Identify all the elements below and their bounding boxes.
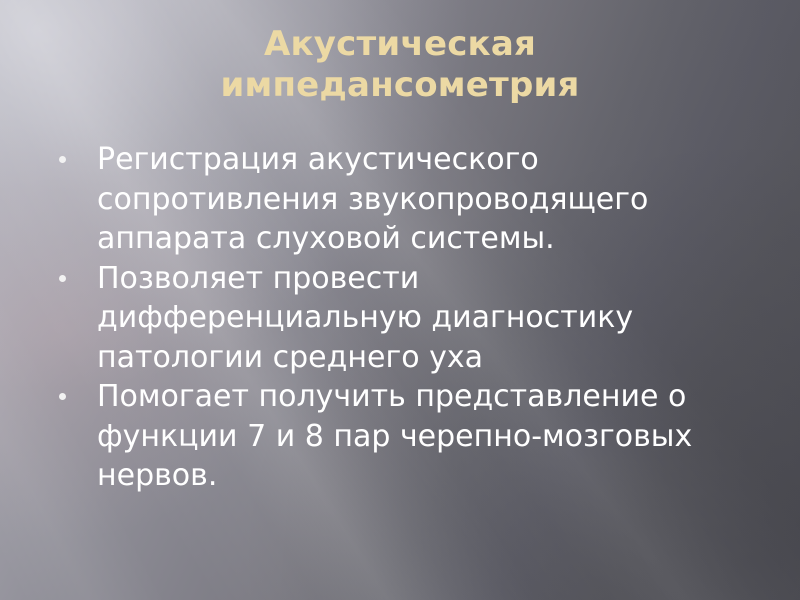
list-item: Помогает получить представление о функци… [52,377,752,496]
presentation-slide: Акустическая импедансометрия Регистрация… [0,0,800,600]
slide-title: Акустическая импедансометрия [40,24,760,106]
bullet-dot-icon [59,393,66,400]
list-item-text: Позволяет провести дифференциальную диаг… [97,259,752,378]
slide-content: Акустическая импедансометрия Регистрация… [0,0,800,600]
list-item-text: Регистрация акустического сопротивления … [97,140,752,259]
slide-bullet-list: Регистрация акустического сопротивления … [52,140,752,496]
bullet-dot-icon [59,156,66,163]
list-item-text: Помогает получить представление о функци… [97,377,752,496]
list-item: Позволяет провести дифференциальную диаг… [52,259,752,378]
bullet-dot-icon [59,275,66,282]
list-item: Регистрация акустического сопротивления … [52,140,752,259]
